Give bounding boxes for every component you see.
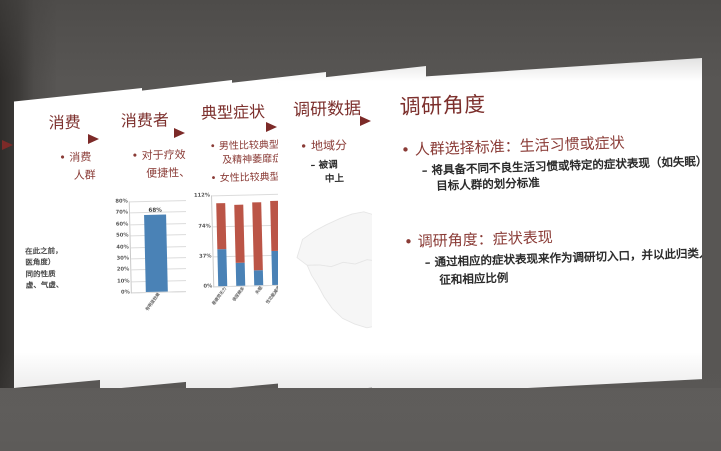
- chart-stacked-bar: 夜尿频多: [234, 195, 245, 286]
- arrow-marker-3[interactable]: [174, 128, 185, 138]
- chart-y-tick-label: 112%: [194, 192, 210, 198]
- chart-bar-value-label: 68%: [148, 207, 162, 213]
- slide-reflection: 通过相应的症状表现来作为调研切入口，并以此归类人群特 征和相应比例: [0, 388, 721, 451]
- chart-x-tick-label: 夜尿频多: [231, 286, 246, 303]
- dash-marker: –: [310, 160, 315, 171]
- chart-y-tick-label: 10%: [117, 278, 130, 284]
- bullet-dot: •: [210, 173, 216, 184]
- slide-2-bullet-1-text: 对于疗效: [142, 148, 186, 162]
- slide-2-bullet-2-text: 便捷性、: [146, 166, 190, 180]
- slide-5-bullet-2: • 调研角度：症状表现: [404, 226, 553, 252]
- dash-marker: –: [422, 163, 428, 177]
- slide-5-subbullet-2: 目标人群的划分标准: [436, 175, 540, 194]
- chart-x-tick-label: 有明显效果: [145, 292, 162, 312]
- chart-bar-segment: [253, 202, 264, 270]
- slide-4-bullet-1: • 地域分: [300, 136, 347, 154]
- floor-surface: [0, 388, 721, 451]
- chart-y-tick-label: 70%: [116, 210, 129, 216]
- slide-4-bullet-3-text: 中上: [325, 173, 344, 184]
- slide-2-bullet-2: 便捷性、: [146, 164, 190, 181]
- chart-y-tick-label: 0%: [121, 289, 130, 295]
- slide-1-bullet-2: 人群: [74, 166, 96, 182]
- slide-2-bullet-1: • 对于疗效: [132, 146, 186, 163]
- slide-3-title: 典型症状: [201, 98, 266, 124]
- slide-1-bullet-1: • 消费: [59, 149, 91, 166]
- chart-y-tick-label: 40%: [116, 244, 129, 250]
- slide-4-title: 调研数据: [293, 94, 362, 121]
- bullet-dot: •: [300, 139, 307, 153]
- chart-y-tick-label: 74%: [198, 223, 211, 229]
- chart-bar-segment: [236, 263, 246, 286]
- slide-4-bullet-1-text: 地域分: [311, 138, 347, 153]
- chart-x-tick-label: 失眠: [254, 285, 264, 295]
- chart-bar-segment: [217, 249, 227, 287]
- bullet-dot: •: [210, 141, 216, 152]
- arrow-marker-1[interactable]: [2, 140, 13, 150]
- slide-carousel-stage: 消费 • 消费 人群 在此之前， 医角度） 同的性质 虚、气虚、: [0, 0, 721, 451]
- chart-y-tick-label: 37%: [199, 253, 212, 259]
- chart-y-tick-label: 30%: [117, 255, 130, 261]
- chart-y-tick-label: 20%: [117, 267, 130, 273]
- slide-1-bullet-2-text: 人群: [74, 168, 96, 181]
- slide-5-bullet-2-text: 调研角度：症状表现: [417, 228, 553, 250]
- chart-y-tick-label: 50%: [116, 233, 129, 239]
- chart-stacked-bar: 易疲劳无力: [216, 195, 227, 286]
- slide-5-subbullet-4: 征和相应比例: [439, 270, 508, 288]
- reflection-fade-overlay: [0, 388, 721, 451]
- slide-5-bullet-1-text: 人群选择标准：生活习惯或症状: [414, 134, 624, 159]
- slide-5-subbullet-2-text: 目标人群的划分标准: [436, 176, 540, 193]
- chart-y-tick-label: 80%: [115, 198, 128, 204]
- arrow-marker-4[interactable]: [266, 122, 277, 132]
- bullet-dot: •: [132, 149, 139, 162]
- chart-bar-segment: [234, 204, 245, 263]
- slide-5-title: 调研角度: [399, 88, 486, 121]
- slide-1-title: 消费: [48, 109, 80, 134]
- bullet-dot: •: [401, 141, 410, 159]
- dash-marker: –: [425, 255, 431, 269]
- chart-y-tick-label: 60%: [116, 221, 129, 227]
- chart-bar-segment: [254, 271, 263, 286]
- slide-3-bullet-3: • 女性比较典型: [210, 168, 279, 185]
- arrow-marker-5[interactable]: [360, 116, 371, 126]
- bullet-dot: •: [59, 151, 66, 164]
- chart-stacked-bar: 失眠: [252, 194, 263, 285]
- slide-3-bullet-2: 及精神萎靡症: [222, 150, 282, 166]
- slide-4-bullet-2-text: 被调: [319, 159, 338, 170]
- slide-3-bullet-2-text: 及精神萎靡症: [222, 154, 282, 166]
- bullet-dot: •: [404, 233, 413, 251]
- chart-bar: 68%有明显效果: [144, 214, 167, 292]
- chart-y-tick-label: 0%: [203, 283, 212, 289]
- slide-1-bullet-1-text: 消费: [69, 151, 91, 164]
- chart-x-tick-label: 易疲劳无力: [210, 286, 227, 306]
- slide-2-title: 消费者: [121, 106, 170, 131]
- slide-4-bullet-2: – 被调: [310, 156, 337, 171]
- chart-bar-segment: [216, 203, 226, 249]
- slide-4-bullet-3: 中上: [325, 170, 344, 184]
- slide-5-subbullet-4-text: 征和相应比例: [439, 271, 508, 287]
- slide-3-bullet-3-text: 女性比较典型: [220, 172, 280, 184]
- arrow-marker-2[interactable]: [88, 134, 99, 144]
- slide-thumbnail-5[interactable]: 调研角度 • 人群选择标准：生活习惯或症状 – 将具备不同不良生活习惯或特定的症…: [372, 58, 702, 396]
